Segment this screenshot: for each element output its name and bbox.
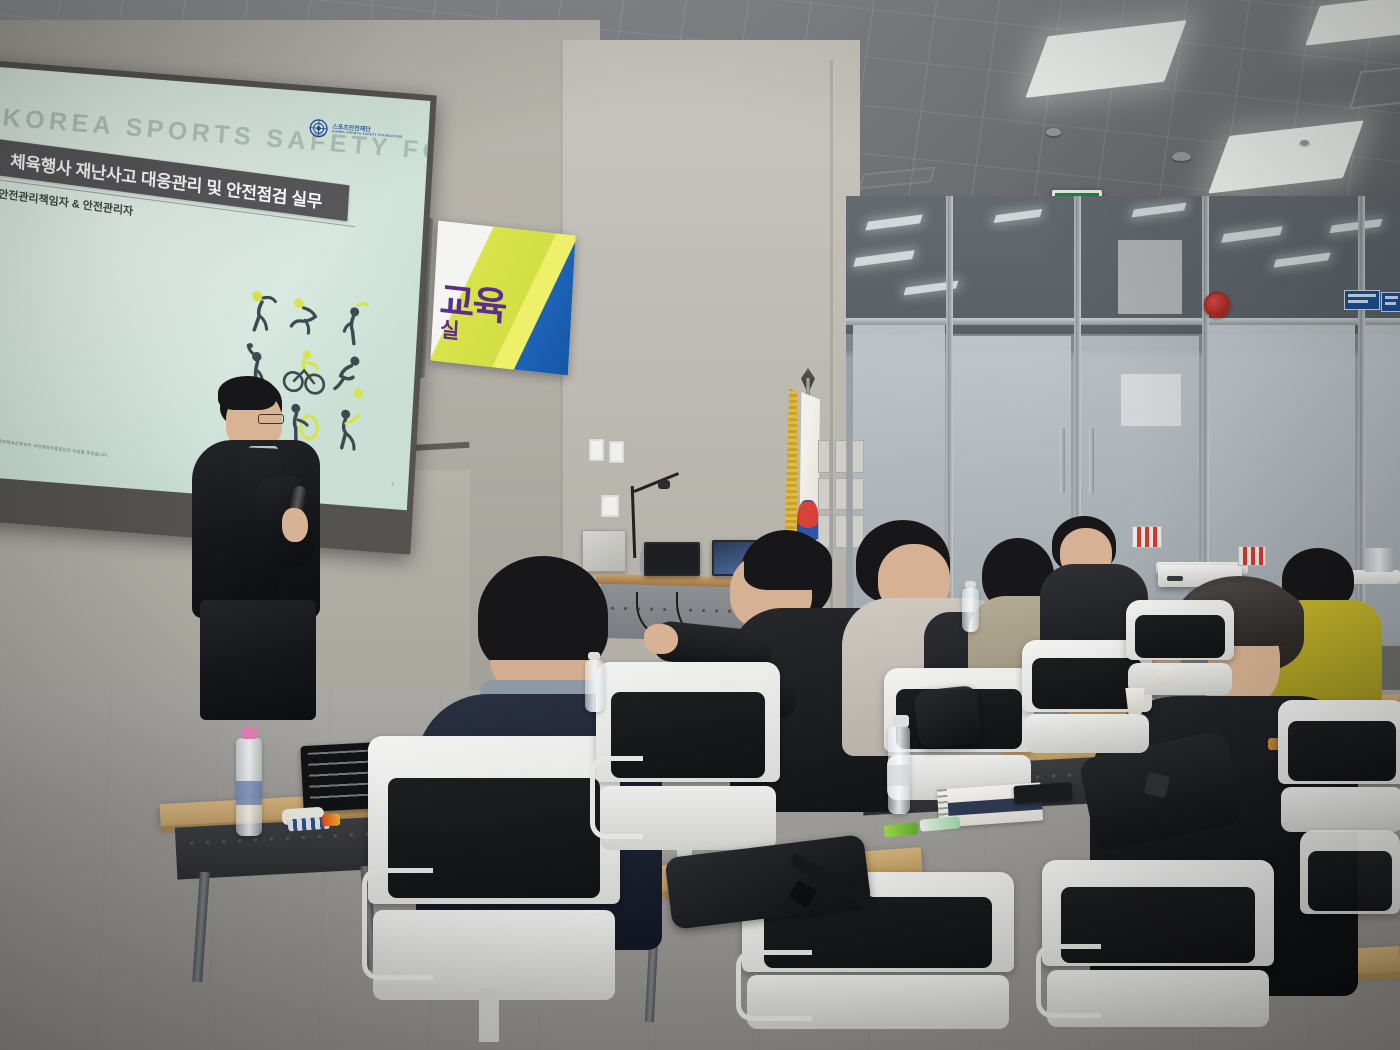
corridor-light	[865, 214, 922, 230]
wall-banner: 교육 실	[430, 221, 575, 376]
warning-sticker	[1238, 546, 1266, 566]
candy-wrapper	[322, 813, 341, 826]
control-button[interactable]	[818, 478, 830, 511]
control-button[interactable]	[835, 478, 847, 511]
blue-info-sign	[1381, 292, 1400, 312]
control-button[interactable]	[835, 440, 847, 473]
fire-alarm-bell-icon	[1204, 292, 1230, 318]
light-switch-plate[interactable]	[608, 440, 625, 464]
chair-armrest	[362, 868, 433, 980]
foundation-emblem-icon	[309, 118, 330, 140]
light-switch-plate[interactable]	[588, 438, 605, 462]
corridor-light	[994, 209, 1043, 223]
bottle-label	[888, 765, 910, 786]
gymnastics-pictogram-icon	[283, 289, 331, 347]
banner-text-secondary: 실	[439, 313, 460, 345]
chair[interactable]	[368, 736, 620, 1036]
chair-armrest	[1036, 944, 1101, 1019]
water-bottle[interactable]	[585, 660, 604, 712]
presenter-hair-top	[218, 376, 276, 410]
bottle-cap	[588, 652, 600, 660]
chair-seat	[1281, 787, 1400, 832]
attendee-hair-top	[744, 534, 832, 590]
control-button[interactable]	[818, 440, 830, 473]
chair-cushion	[1308, 851, 1392, 911]
door-notice	[1121, 374, 1181, 426]
power-outlet-plate[interactable]	[600, 494, 620, 518]
presenter	[186, 378, 326, 678]
bottle-cap	[241, 727, 257, 739]
presenter-hand	[282, 508, 308, 542]
corridor-light	[1330, 219, 1383, 234]
bottle-label	[236, 781, 262, 805]
chair-cushion	[1135, 615, 1226, 658]
chair[interactable]	[1300, 830, 1400, 980]
slide-page-number: 1	[391, 481, 394, 487]
badminton-pictogram-icon	[328, 295, 376, 353]
chair-seat	[1025, 714, 1150, 752]
smoke-detector-icon	[1046, 128, 1061, 136]
volleyball-pictogram-icon	[238, 284, 286, 342]
bottle-cap	[893, 715, 909, 727]
corridor-light	[1273, 252, 1330, 267]
presenter-trousers	[200, 600, 316, 720]
smoke-detector-icon	[1300, 140, 1309, 145]
blue-info-sign	[1344, 290, 1380, 310]
attendee-pointing-hand	[644, 624, 678, 654]
chair-armrest	[736, 950, 812, 1021]
door-handle-left[interactable]	[1060, 428, 1065, 494]
water-bottle[interactable]	[888, 726, 910, 814]
corridor-light	[853, 250, 915, 267]
glass-mullion-horizontal	[846, 318, 1400, 325]
chair[interactable]	[1042, 860, 1274, 1050]
glass-upper-transom	[846, 196, 1400, 334]
bottle-cap	[965, 581, 976, 588]
control-button[interactable]	[852, 478, 864, 511]
chair[interactable]	[1278, 700, 1400, 850]
glasses-icon	[258, 414, 284, 424]
chair-cushion	[1288, 721, 1396, 781]
corridor-light	[1221, 226, 1283, 243]
lecture-room-photo: KOREA SPORTS SAFETY FOUNDATION 스포츠안전재단 K…	[0, 0, 1400, 1050]
wrestling-pictogram-icon	[325, 348, 373, 406]
chair-armrest	[590, 756, 643, 839]
water-bottle[interactable]	[236, 738, 262, 836]
water-bottle[interactable]	[962, 588, 979, 632]
corridor-light	[1131, 203, 1186, 218]
foundation-logo-text: 스포츠안전재단 KOREA SPORTS SAFETY FOUNDATION	[332, 124, 403, 140]
chair-leg	[479, 988, 499, 1042]
taekwondo-pictogram-icon	[322, 401, 370, 459]
wall-poster	[1118, 240, 1182, 314]
backpack-on-chair[interactable]	[913, 685, 983, 749]
microphone-head-icon	[658, 480, 670, 489]
control-button[interactable]	[852, 440, 864, 473]
smoke-detector-icon	[1172, 152, 1191, 161]
door-handle-right[interactable]	[1089, 428, 1094, 494]
chair[interactable]	[596, 662, 780, 876]
